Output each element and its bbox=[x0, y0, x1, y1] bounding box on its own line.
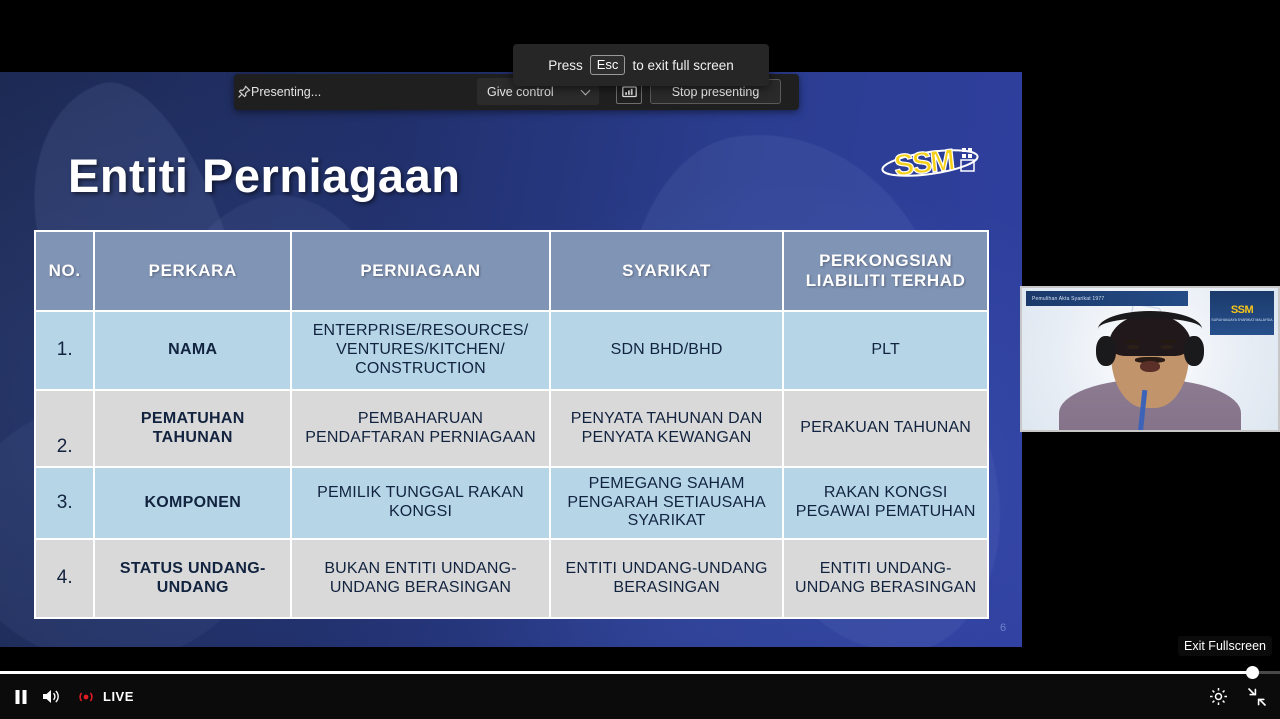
slide-title: Entiti Perniagaan bbox=[68, 148, 460, 203]
letterbox-bottom bbox=[0, 647, 1280, 671]
presenting-status-label: Presenting... bbox=[251, 85, 321, 99]
column-header-perkara: PERKARA bbox=[95, 232, 290, 310]
settings-button[interactable] bbox=[1209, 687, 1228, 706]
row-perniagaan: BUKAN ENTITI UNDANG-UNDANG BERASINGAN bbox=[292, 540, 549, 617]
column-header-perniagaan: PERNIAGAAN bbox=[292, 232, 549, 310]
participant-eye-left bbox=[1127, 345, 1139, 349]
exit-fullscreen-tooltip: Exit Fullscreen bbox=[1178, 636, 1272, 656]
svg-text:SSM: SSM bbox=[893, 144, 955, 183]
pin-toolbar-button[interactable] bbox=[234, 82, 254, 102]
live-broadcast-icon bbox=[76, 689, 96, 705]
give-control-label: Give control bbox=[487, 85, 554, 99]
row-perkara: KOMPONEN bbox=[95, 468, 290, 538]
participant-brow-left bbox=[1124, 340, 1139, 343]
row-perniagaan: PEMBAHARUAN PENDAFTARAN PERNIAGAAN bbox=[292, 391, 549, 466]
pause-button[interactable] bbox=[14, 689, 28, 705]
headphone-band-icon bbox=[1098, 311, 1202, 329]
table-row: 4. STATUS UNDANG-UNDANG BUKAN ENTITI UND… bbox=[36, 540, 987, 617]
volume-icon bbox=[42, 688, 62, 705]
row-syarikat: PENYATA TAHUNAN DAN PENYATA KEWANGAN bbox=[551, 391, 782, 466]
row-syarikat: PEMEGANG SAHAM PENGARAH SETIAUSAHA SYARI… bbox=[551, 468, 782, 538]
row-perniagaan: PEMILIK TUNGGAL RAKAN KONGSI bbox=[292, 468, 549, 538]
table-header-row: NO. PERKARA PERNIAGAAN SYARIKAT PERKONGS… bbox=[36, 232, 987, 310]
stop-presenting-label: Stop presenting bbox=[672, 85, 760, 99]
slide-page-number: 6 bbox=[1000, 622, 1006, 634]
player-left-controls: LIVE bbox=[14, 688, 134, 705]
share-screen-icon bbox=[622, 86, 637, 99]
row-perniagaan: ENTERPRISE/RESOURCES/ VENTURES/KITCHEN/ … bbox=[292, 312, 549, 389]
headphone-earcup-right-icon bbox=[1184, 336, 1204, 366]
live-label: LIVE bbox=[103, 689, 134, 704]
row-perkara: PEMATUHAN TAHUNAN bbox=[95, 391, 290, 466]
table-row: 2. PEMATUHAN TAHUNAN PEMBAHARUAN PENDAFT… bbox=[36, 391, 987, 466]
gear-icon bbox=[1209, 687, 1228, 706]
row-perkara: NAMA bbox=[95, 312, 290, 389]
esc-banner-prefix: Press bbox=[548, 58, 583, 73]
row-plt: RAKAN KONGSI PEGAWAI PEMATUHAN bbox=[784, 468, 987, 538]
pause-icon bbox=[14, 689, 28, 705]
participant-video-tile[interactable]: Pemulihan Akta Syarikat 1977 SSM SURUHAN… bbox=[1020, 286, 1280, 432]
computer-use-screen: Entiti Perniagaan SSM NO. PERKARA PERNIA… bbox=[0, 0, 1280, 719]
row-number: 1. bbox=[36, 312, 93, 389]
video-progress-track[interactable] bbox=[0, 671, 1280, 674]
row-plt: PERAKUAN TAHUNAN bbox=[784, 391, 987, 466]
video-progress-handle[interactable] bbox=[1246, 666, 1259, 679]
table-body: 1. NAMA ENTERPRISE/RESOURCES/ VENTURES/K… bbox=[36, 312, 987, 617]
player-right-controls bbox=[1209, 687, 1266, 706]
row-number: 2. bbox=[36, 391, 93, 466]
table-head: NO. PERKARA PERNIAGAAN SYARIKAT PERKONGS… bbox=[36, 232, 987, 310]
exit-fullscreen-banner: Press Esc to exit full screen bbox=[513, 44, 769, 86]
entity-comparison-table: NO. PERKARA PERNIAGAAN SYARIKAT PERKONGS… bbox=[34, 230, 989, 619]
row-number: 4. bbox=[36, 540, 93, 617]
column-header-syarikat: SYARIKAT bbox=[551, 232, 782, 310]
esc-banner-suffix: to exit full screen bbox=[632, 58, 733, 73]
row-plt: ENTITI UNDANG-UNDANG BERASINGAN bbox=[784, 540, 987, 617]
video-progress-fill bbox=[0, 671, 1252, 674]
esc-key-badge: Esc bbox=[590, 55, 626, 75]
live-indicator[interactable]: LIVE bbox=[76, 689, 134, 705]
video-player-controls: LIVE bbox=[0, 674, 1280, 719]
row-number: 3. bbox=[36, 468, 93, 538]
participant-mouth bbox=[1140, 361, 1160, 372]
volume-button[interactable] bbox=[42, 688, 62, 705]
column-header-no: NO. bbox=[36, 232, 93, 310]
headphone-earcup-left-icon bbox=[1096, 336, 1116, 366]
column-header-plt: PERKONGSIAN LIABILITI TERHAD bbox=[784, 232, 987, 310]
row-perkara: STATUS UNDANG-UNDANG bbox=[95, 540, 290, 617]
row-plt: PLT bbox=[784, 312, 987, 389]
participant-eye-right bbox=[1161, 345, 1173, 349]
row-syarikat: SDN BHD/BHD bbox=[551, 312, 782, 389]
exit-fullscreen-icon bbox=[1248, 688, 1266, 706]
pin-icon bbox=[237, 85, 251, 99]
participant-brow-right bbox=[1161, 340, 1176, 343]
table-row: 3. KOMPONEN PEMILIK TUNGGAL RAKAN KONGSI… bbox=[36, 468, 987, 538]
participant-avatar bbox=[1022, 288, 1278, 430]
table-row: 1. NAMA ENTERPRISE/RESOURCES/ VENTURES/K… bbox=[36, 312, 987, 389]
ssm-logo-icon: SSM bbox=[878, 136, 986, 188]
row-syarikat: ENTITI UNDANG-UNDANG BERASINGAN bbox=[551, 540, 782, 617]
exit-fullscreen-button[interactable] bbox=[1248, 688, 1266, 706]
chevron-down-icon bbox=[582, 87, 591, 96]
